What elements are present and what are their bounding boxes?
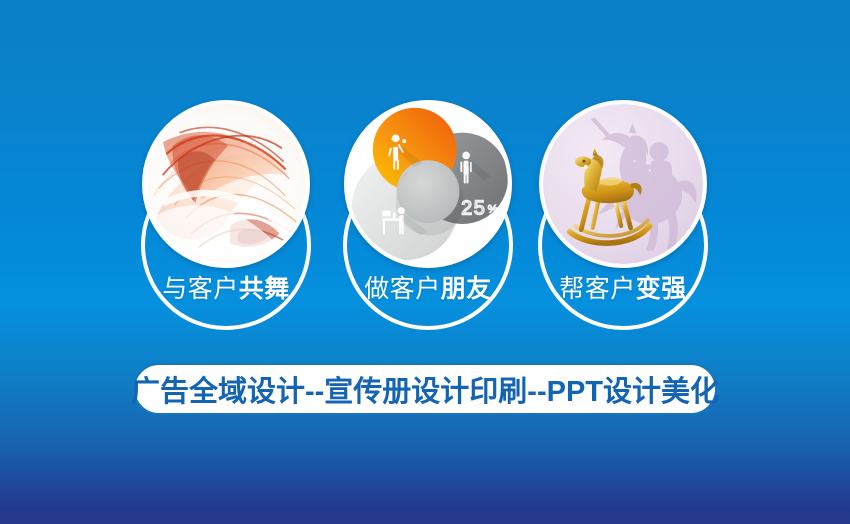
card-caption-strong: 朋友 — [441, 275, 492, 303]
poster-canvas: 与客户共舞 — [0, 0, 850, 524]
card-make-customer-stronger[interactable]: 帮客户变强 — [518, 100, 728, 350]
card-caption-strong: 变强 — [636, 275, 687, 303]
card-caption: 帮客户变强 — [518, 268, 728, 310]
card-caption-lead: 与客户 — [162, 275, 239, 303]
services-banner-text: 广告全域设计--宣传册设计印刷--PPT设计美化 — [131, 368, 719, 410]
orange-smoke-swirl-image — [142, 100, 310, 268]
svg-text:%: % — [488, 204, 498, 216]
card-caption: 与客户共舞 — [121, 268, 331, 310]
card-caption-strong: 共舞 — [239, 275, 290, 303]
pie-infographic-image: 25 % — [344, 100, 512, 268]
card-caption-lead: 做客户 — [364, 275, 441, 303]
golden-rocking-horse-image — [539, 100, 707, 268]
card-be-customer-friend[interactable]: 25 % 做客户朋友 — [323, 100, 533, 350]
card-caption: 做客户朋友 — [323, 268, 533, 310]
card-dance-with-customer[interactable]: 与客户共舞 — [121, 100, 331, 350]
services-banner[interactable]: 广告全域设计--宣传册设计印刷--PPT设计美化 — [133, 363, 717, 415]
pie-percent-label: 25 — [461, 197, 486, 219]
card-caption-lead: 帮客户 — [559, 275, 636, 303]
